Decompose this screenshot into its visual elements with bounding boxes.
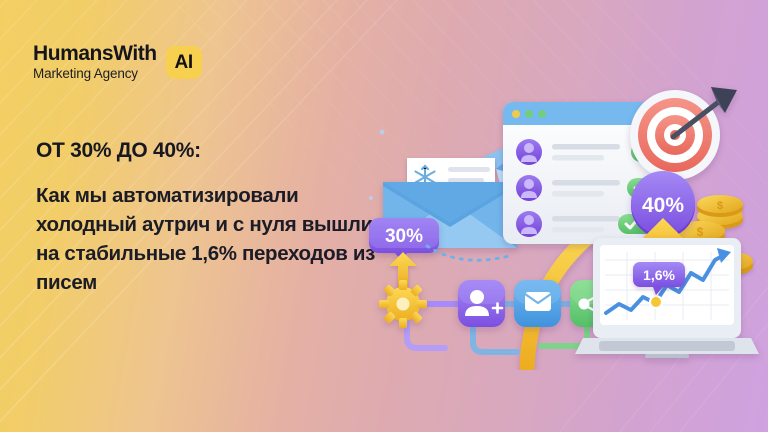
badge-30-label: 30%	[385, 226, 423, 247]
poster-canvas: HumansWith Marketing Agency AI ОТ 30% ДО…	[0, 0, 768, 432]
svg-text:$: $	[697, 225, 704, 239]
window-dots	[512, 110, 546, 118]
user-add-icon	[458, 280, 505, 327]
svg-text:$: $	[717, 200, 723, 212]
logo-tagline: Marketing Agency	[33, 67, 157, 81]
envelope-icon	[514, 280, 561, 327]
chart-datapoint	[650, 296, 662, 308]
headline-block: ОТ 30% ДО 40%: Как мы автоматизировали х…	[36, 139, 381, 297]
logo-ai-badge: AI	[166, 46, 202, 79]
laptop-with-chart: 1,6%	[575, 238, 759, 358]
badge-40-label: 40%	[642, 194, 684, 217]
logo-text-block: HumansWith Marketing Agency	[33, 43, 157, 81]
tooltip-label: 1,6%	[643, 267, 675, 283]
illustration-group: 30%	[355, 70, 768, 370]
headline-body: Как мы автоматизировали холодный аутрич …	[36, 181, 381, 297]
gear-icon	[379, 280, 427, 328]
dotted-connector	[427, 246, 509, 260]
headline-kicker: ОТ 30% ДО 40%:	[36, 139, 381, 163]
dartboard-icon	[630, 87, 737, 180]
logo-brand-name: HumansWith	[33, 43, 157, 64]
brand-logo[interactable]: HumansWith Marketing Agency AI	[33, 43, 202, 81]
